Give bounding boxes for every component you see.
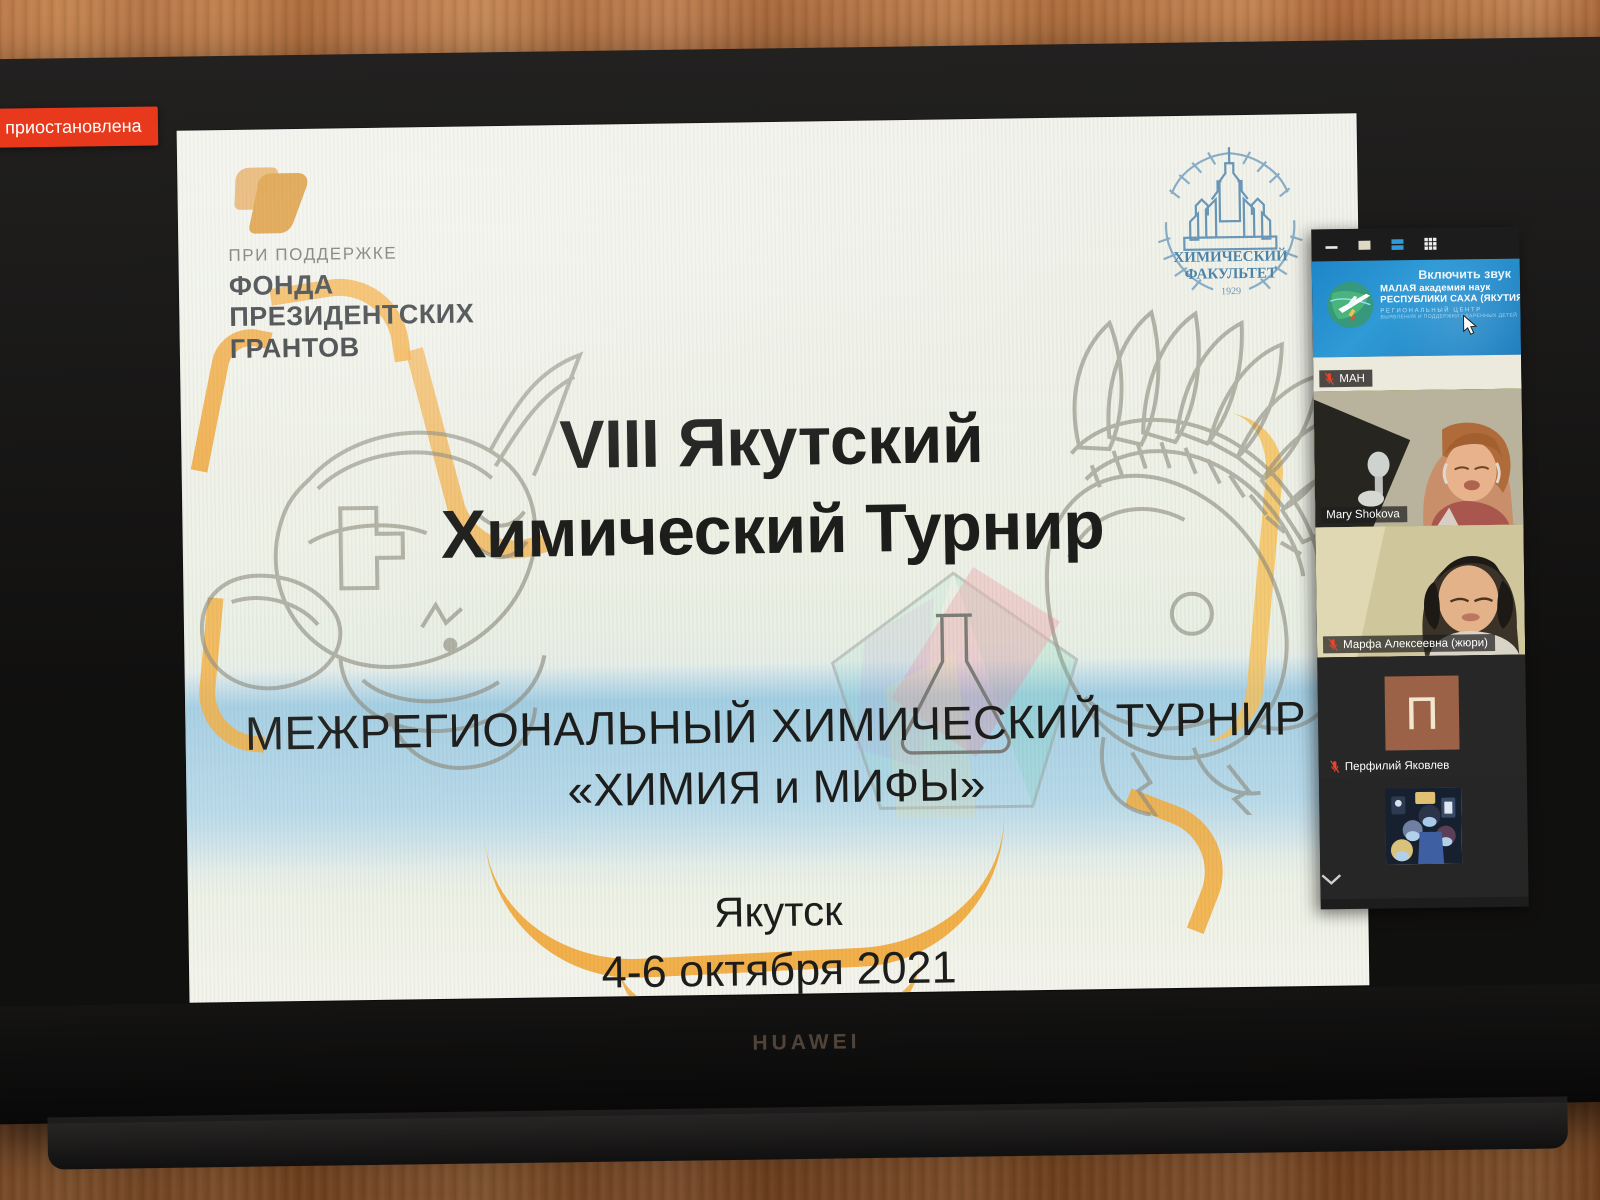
support-label: ПРИ ПОДДЕРЖКЕ — [228, 242, 473, 266]
participant-tile[interactable]: Марфа Алексеевна (жюри) — [1315, 525, 1525, 658]
avatar — [1385, 787, 1462, 864]
avatar: П — [1385, 675, 1460, 750]
zoom-shared-banner: Включить звук МАЛАЯ академия наук РЕСПУБ… — [1312, 259, 1521, 358]
huawei-brand-label: HUAWEI — [0, 1020, 1600, 1067]
muted-microphone-icon — [1328, 638, 1338, 651]
zoom-window-toolbar[interactable] — [1311, 227, 1519, 262]
participant-name-chip: Марфа Алексеевна (жюри) — [1323, 634, 1495, 653]
zoom-meeting-window[interactable]: Включить звук МАЛАЯ академия наук РЕСПУБ… — [1311, 227, 1528, 910]
participant-tile[interactable]: П Перфилий Яковлев — [1317, 655, 1527, 780]
participant-name-label: Mary Shokova — [1326, 508, 1400, 521]
unmute-audio-label[interactable]: Включить звук — [1418, 267, 1511, 282]
grants-fund-text-block: ПРИ ПОДДЕРЖКЕ ФОНДА ПРЕЗИДЕНТСКИХ ГРАНТО… — [228, 242, 475, 365]
laptop-bottom-bezel — [0, 984, 1600, 1125]
man-organization-text: МАЛАЯ академия наук РЕСПУБЛИКИ САХА (ЯКУ… — [1380, 282, 1521, 321]
man-org-line-2: РЕСПУБЛИКИ САХА (ЯКУТИЯ) — [1380, 293, 1521, 306]
slide-city: Якутск — [188, 879, 1369, 944]
mouse-cursor-icon — [1462, 314, 1478, 336]
msu-logo-year: 1929 — [1221, 286, 1241, 297]
fund-name-line-1: ФОНДА — [229, 267, 474, 302]
msu-logo-line2: ФАКУЛЬТЕТ — [1185, 265, 1278, 282]
presentation-slide: ПРИ ПОДДЕРЖКЕ ФОНДА ПРЕЗИДЕНТСКИХ ГРАНТО… — [177, 113, 1370, 1002]
participant-name-chip: Перфилий Яковлев — [1325, 757, 1457, 776]
muted-microphone-icon — [1324, 372, 1334, 385]
man-organization-logo — [1324, 279, 1377, 332]
title-line-2: Химический Турнир — [182, 478, 1363, 584]
host-name-chip: МАН — [1319, 370, 1372, 388]
participant-name-label: Перфилий Яковлев — [1345, 759, 1450, 772]
gallery-view-icon[interactable] — [1422, 236, 1438, 252]
participant-name-chip: Mary Shokova — [1321, 506, 1407, 523]
participant-name-label: Марфа Алексеевна (жюри) — [1343, 637, 1488, 651]
fund-name-line-3: ГРАНТОВ — [230, 330, 475, 365]
avatar-image — [1385, 787, 1462, 864]
man-org-line-4: ВЫЯВЛЕНИЯ И ПОДДЕРЖКИ ОДАРЕННЫХ ДЕТЕЙ — [1380, 313, 1521, 321]
presidential-grants-fund-logo — [227, 157, 316, 240]
participant-tile[interactable] — [1319, 777, 1529, 900]
muted-microphone-icon — [1330, 760, 1340, 773]
minimize-icon[interactable] — [1323, 237, 1339, 253]
maximize-icon[interactable] — [1356, 237, 1372, 253]
fund-name-line-2: ПРЕЗИДЕНТСКИХ — [229, 299, 474, 334]
speaker-view-icon[interactable] — [1389, 236, 1405, 252]
zoom-shared-banner-lower: МАН — [1313, 355, 1521, 392]
msu-logo-line1: ХИМИЧЕСКИЙ — [1173, 247, 1288, 266]
host-name-label: МАН — [1339, 372, 1365, 384]
chevron-down-icon[interactable] — [1320, 873, 1342, 885]
msu-chemistry-faculty-logo: ХИМИЧЕСКИЙ ФАКУЛЬТЕТ 1929 — [1149, 136, 1312, 308]
slide-title: VIII Якутский Химический Турнир — [181, 389, 1363, 583]
recording-paused-banner: пись приостановлена — [0, 106, 158, 148]
participant-tile[interactable]: Mary Shokova — [1314, 389, 1524, 528]
